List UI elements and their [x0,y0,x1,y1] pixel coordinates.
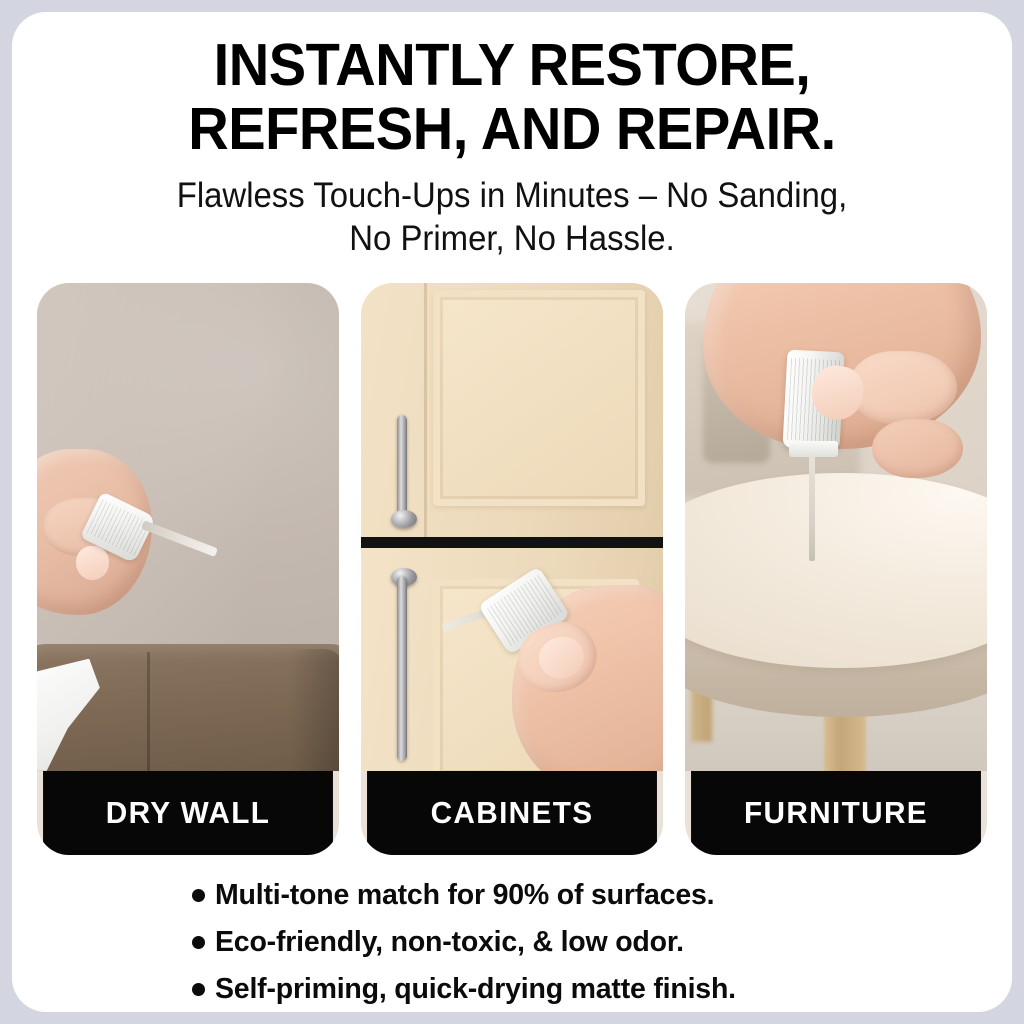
use-case-card-dry-wall[interactable]: DRY WALL [37,283,339,855]
bullet-dot-icon [192,936,205,949]
product-feature-panel: INSTANTLY RESTORE, REFRESH, AND REPAIR. … [12,12,1012,1012]
table-top-image [685,473,987,668]
page-title: INSTANTLY RESTORE, REFRESH, AND REPAIR. [66,34,959,161]
cabinet-shadow-gap [361,537,663,549]
cabinet-knob-upper [391,510,417,528]
cabinet-handle-upper [397,415,407,522]
card-caption-cabinets: CABINETS [367,771,657,855]
cabinet-stile [424,283,427,537]
page-subtitle: Flawless Touch-Ups in Minutes – No Sandi… [89,175,935,260]
finger-image [848,351,957,424]
furniture-photo [685,283,987,771]
feature-text: Self-priming, quick-drying matte finish. [215,973,736,1006]
list-item: Eco-friendly, non-toxic, & low odor. [192,926,832,959]
cabinet-handle-lower [397,576,407,761]
feature-text: Eco-friendly, non-toxic, & low odor. [215,926,684,959]
dry-wall-photo [37,283,339,771]
card-caption-dry-wall: DRY WALL [43,771,333,855]
upper-cabinet-panel [433,290,644,506]
use-case-card-row: DRY WALL [37,283,987,855]
page-subtitle-line-1: Flawless Touch-Ups in Minutes – No Sandi… [89,175,935,218]
card-caption-furniture: FURNITURE [691,771,981,855]
feature-list: Multi-tone match for 90% of surfaces. Ec… [192,879,832,1006]
use-case-card-furniture[interactable]: FURNITURE [685,283,987,855]
list-item: Multi-tone match for 90% of surfaces. [192,879,832,912]
cabinets-photo [361,283,663,771]
page-subtitle-line-2: No Primer, No Hassle. [89,218,935,261]
applicator-tip-image [809,454,815,561]
page-title-line-1: INSTANTLY RESTORE, [66,34,959,98]
feature-text: Multi-tone match for 90% of surfaces. [215,879,714,912]
finger-secondary-image [872,419,963,478]
page-title-line-2: REFRESH, AND REPAIR. [66,98,959,162]
bullet-dot-icon [192,889,205,902]
bullet-dot-icon [192,983,205,996]
use-case-card-cabinets[interactable]: CABINETS [361,283,663,855]
list-item: Self-priming, quick-drying matte finish. [192,973,832,1006]
